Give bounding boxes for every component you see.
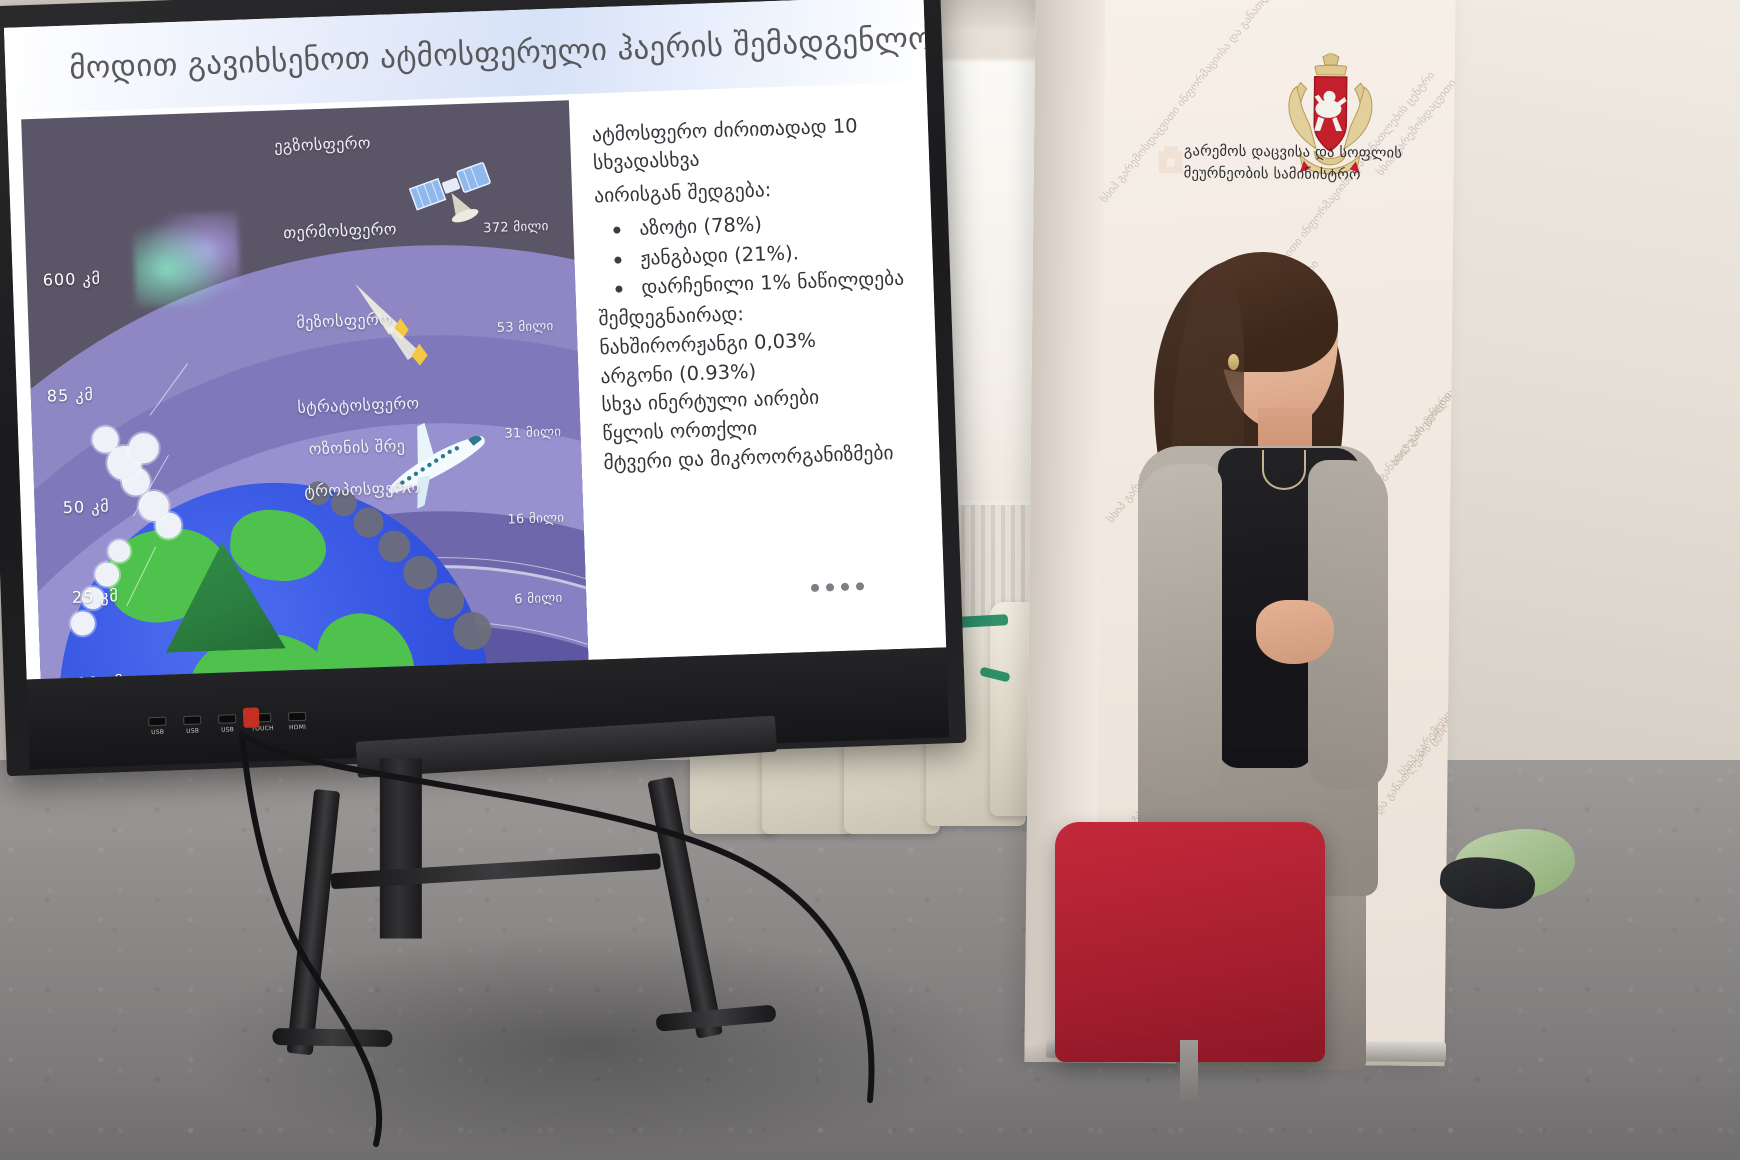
slide-text-column: ატმოსფერო ძირითადად 10 სხვადასხვა აირისგ… bbox=[569, 82, 947, 660]
altitude-label-372mi: 372 მილი bbox=[483, 219, 549, 236]
chair-leg bbox=[1180, 1040, 1198, 1100]
banner-ministry-name: გარემოს დაცვისა და სოფლის მეურნეობის სამ… bbox=[1184, 141, 1456, 188]
port-hole bbox=[183, 715, 201, 725]
indicator-dot bbox=[841, 583, 849, 591]
bullet-dot-icon bbox=[614, 256, 621, 263]
airplane-icon bbox=[361, 403, 505, 526]
altitude-label-31mi: 31 მილი bbox=[504, 425, 561, 442]
stand-foot-left bbox=[272, 1028, 392, 1047]
presenter-earring bbox=[1228, 354, 1239, 370]
wall-corner bbox=[1430, 0, 1740, 820]
satellite-icon bbox=[404, 142, 518, 256]
bullet-text: აზოტი (78%) bbox=[639, 213, 762, 240]
diagram-label-troposphere: ტროპოსფერო bbox=[304, 478, 420, 501]
altitude-label-16mi: 16 მილი bbox=[507, 511, 564, 528]
presenter-hands bbox=[1256, 600, 1334, 664]
indicator-dot bbox=[826, 583, 834, 591]
slide-lead-line-2: აირისგან შედგება: bbox=[594, 172, 905, 210]
indicator-dot bbox=[856, 582, 864, 590]
slide-title: მოდით გავიხსენოთ ატმოსფერული ჰაერის შემა… bbox=[5, 19, 946, 88]
presenter-arm-left bbox=[1138, 464, 1222, 794]
aurora-illustration bbox=[133, 212, 241, 308]
port-usb[interactable]: USB bbox=[215, 714, 240, 734]
slide-bullet-list: აზოტი (78%) ჟანგბადი (21%). დარჩენილი 1%… bbox=[595, 206, 908, 304]
slide-lead-line-1: ატმოსფერო ძირითადად 10 სხვადასხვა bbox=[592, 111, 904, 177]
diagram-label-exosphere: ეგზოსფერო bbox=[274, 133, 371, 155]
port-usb[interactable]: USB bbox=[145, 717, 170, 737]
bullet-dot-icon bbox=[613, 227, 620, 234]
banner-stamp-icon bbox=[1156, 143, 1186, 177]
continent bbox=[227, 506, 330, 586]
stand-post bbox=[380, 759, 422, 939]
display-screen[interactable]: მოდით გავიხსენოთ ატმოსფერული ჰაერის შემა… bbox=[4, 0, 946, 679]
diagram-label-ozone-layer: ოზონის შრე bbox=[309, 436, 406, 458]
port-label: USB bbox=[216, 726, 240, 734]
bullet-dot-icon bbox=[615, 286, 622, 293]
port-label: USB bbox=[146, 729, 170, 737]
screenshot-root: მოდით გავიხსენოთ ატმოსფერული ჰაერის შემა… bbox=[0, 0, 1740, 1160]
port-hole bbox=[288, 712, 306, 722]
slide-body: ეგზოსფერო თერმოსფერო მეზოსფერო სტრატოსფე… bbox=[7, 82, 946, 680]
altitude-label-53mi: 53 მილი bbox=[497, 319, 554, 336]
port-label: HDMI bbox=[285, 724, 309, 732]
port-hole bbox=[148, 717, 166, 727]
diagram-label-thermosphere: თერმოსფერო bbox=[283, 219, 397, 242]
port-label: USB bbox=[181, 727, 205, 735]
presenter-necklace bbox=[1262, 450, 1306, 490]
bullet-text: ჟანგბადი (21%). bbox=[640, 241, 799, 270]
indicator-dot bbox=[811, 584, 819, 592]
altitude-label-85km: 85 კმ bbox=[47, 385, 95, 406]
bullet-text: დარჩენილი 1% ნაწილდება bbox=[641, 267, 904, 299]
slide-sub-lines: შემდეგნაირად: ნახშირორჟანგი 0,03% არგონი… bbox=[598, 295, 914, 477]
altitude-label-50km: 50 კმ bbox=[62, 496, 110, 517]
connected-cable-plug bbox=[243, 707, 260, 728]
altitude-label-25km: 25 კმ bbox=[72, 586, 120, 607]
altitude-label-600km: 600 კმ bbox=[42, 269, 101, 290]
altitude-label-6mi: 6 მილი bbox=[514, 591, 563, 608]
atmosphere-diagram: ეგზოსფერო თერმოსფერო მეზოსფერო სტრატოსფე… bbox=[21, 100, 588, 679]
ministry-line-1: გარემოს დაცვისა და სოფლის bbox=[1184, 141, 1456, 166]
red-chair[interactable] bbox=[1055, 822, 1325, 1062]
presentation-slide: მოდით გავიხსენოთ ატმოსფერული ჰაერის შემა… bbox=[4, 0, 946, 679]
port-hdmi[interactable]: HDMI bbox=[285, 712, 310, 732]
diagram-label-mesosphere: მეზოსფერო bbox=[296, 310, 392, 332]
ministry-line-2: მეურნეობის სამინისტრო bbox=[1184, 163, 1456, 188]
port-hole bbox=[218, 714, 236, 724]
port-usb[interactable]: USB bbox=[180, 715, 205, 735]
interactive-display[interactable]: მოდით გავიხსენოთ ატმოსფერული ჰაერის შემა… bbox=[0, 0, 987, 800]
